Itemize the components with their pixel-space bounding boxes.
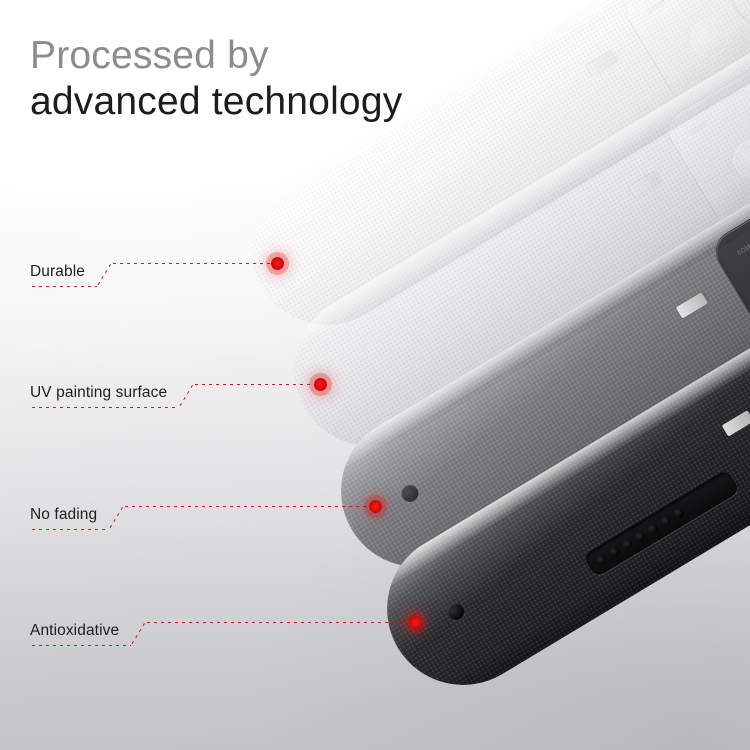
callout-leader-line — [111, 262, 277, 265]
headline-line-1: Processed by — [30, 34, 402, 78]
callout-label: Durable — [30, 263, 85, 281]
callout-underline — [30, 406, 179, 409]
callout-marker-dot — [369, 500, 382, 513]
product-marketing-image: 50MP50MP50MP50MP Processed by advanced t… — [0, 0, 750, 750]
camera-spec-label: 50MP — [689, 120, 710, 136]
callout-underline — [30, 285, 97, 288]
callout-leader-line — [145, 621, 415, 624]
speaker-hole — [620, 537, 634, 551]
lens-ring — [726, 133, 750, 185]
camera-lens-secondary — [683, 12, 735, 64]
callout-label: UV painting surface — [30, 384, 167, 402]
speaker-hole — [659, 514, 673, 528]
speaker-hole — [608, 545, 622, 559]
callout-underline — [30, 644, 131, 647]
speaker-hole — [633, 530, 647, 544]
page-title: Processed by advanced technology — [30, 34, 402, 125]
speaker-hole — [595, 553, 609, 567]
camera-spec-label: 50MP — [736, 241, 750, 257]
callout-leader-line — [193, 383, 320, 386]
callout-marker-dot — [271, 257, 284, 270]
callout-leader-line — [123, 505, 375, 508]
camera-lens-secondary — [726, 133, 750, 185]
callout-marker-dot — [409, 616, 422, 629]
camera-spec-label: 50MP — [646, 0, 667, 15]
callout-label: No fading — [30, 506, 97, 524]
callout-underline — [30, 528, 109, 531]
lens-ring — [683, 12, 735, 64]
headline-line-2: advanced technology — [30, 80, 402, 124]
callout-marker-dot — [314, 378, 327, 391]
speaker-hole — [672, 506, 686, 520]
speaker-hole — [646, 522, 660, 536]
callout-label: Antioxidative — [30, 622, 119, 640]
